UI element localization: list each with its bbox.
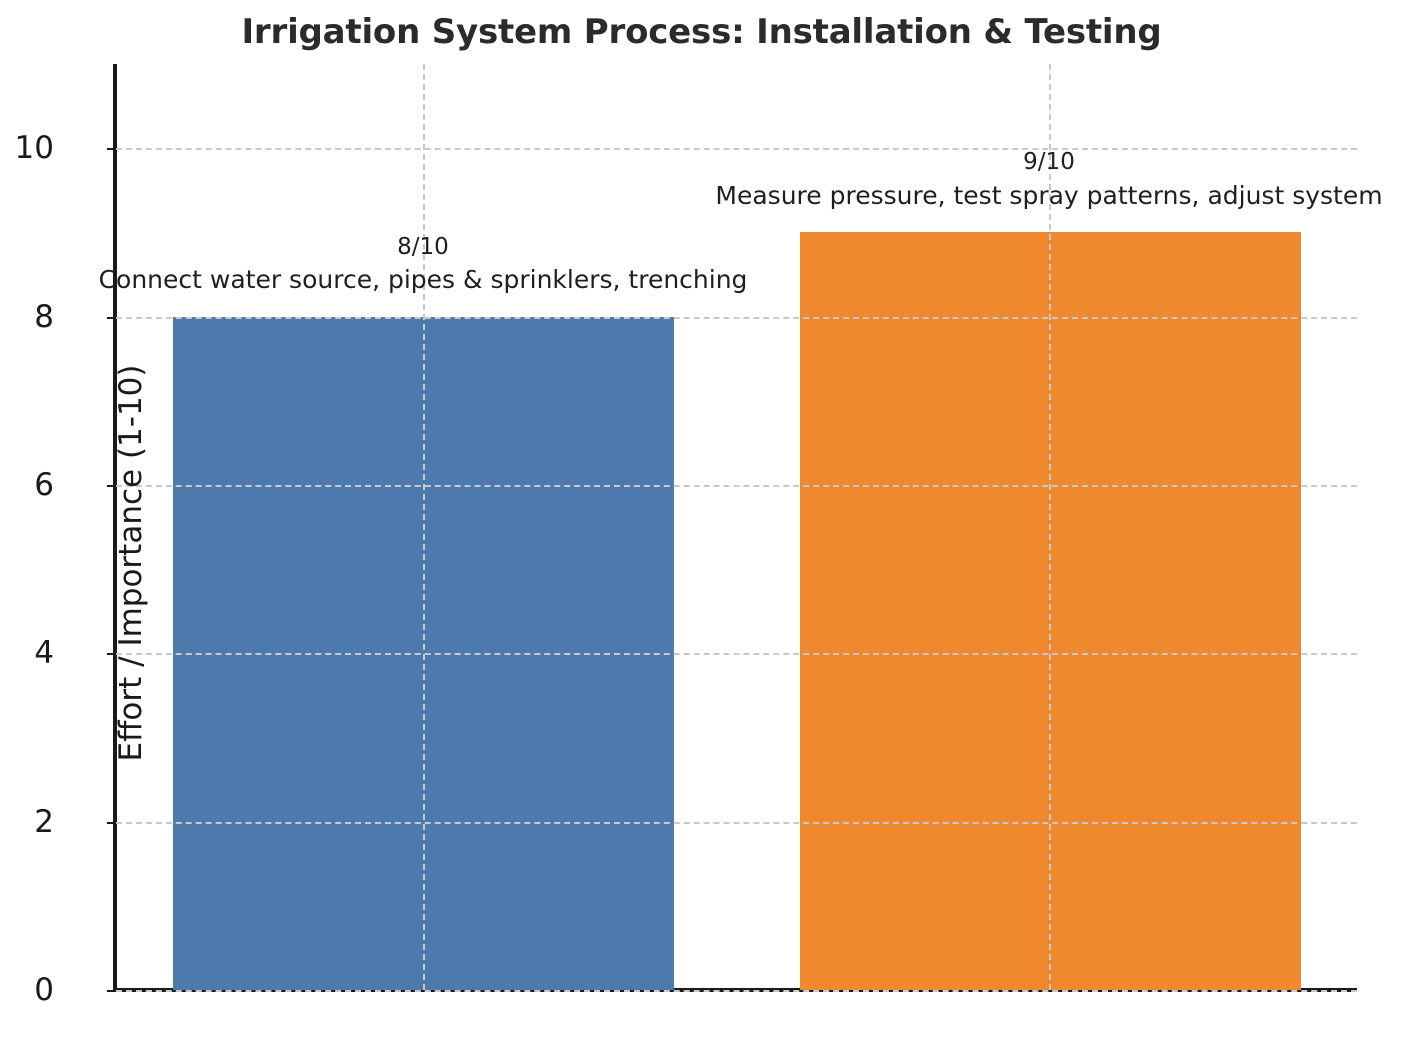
gridline-y-4: [116, 653, 1357, 655]
bar-value-label-testing: 9/10: [715, 147, 1382, 179]
bar-description-installation: Connect water source, pipes & sprinklers…: [99, 263, 748, 298]
gridline-x-installation: [423, 64, 425, 990]
chart-figure: Irrigation System Process: Installation …: [0, 0, 1403, 1053]
y-tick-label-2: 2: [0, 807, 54, 838]
y-axis-label: Effort / Importance (1-10): [113, 83, 149, 1043]
plot-area: 0 2 4 6 8 10 8/10 Connect water source, …: [116, 64, 1357, 990]
gridline-y-8: [116, 317, 1357, 319]
y-tick-label-8: 8: [0, 302, 54, 333]
y-tick-label-10: 10: [0, 133, 54, 164]
bar-annotation-installation: 8/10 Connect water source, pipes & sprin…: [99, 232, 748, 298]
bar-annotation-testing: 9/10 Measure pressure, test spray patter…: [715, 147, 1382, 213]
gridline-y-0: [116, 990, 1357, 992]
y-tick-label-0: 0: [0, 975, 54, 1006]
chart-title: Irrigation System Process: Installation …: [0, 12, 1403, 52]
y-tick-label-4: 4: [0, 638, 54, 669]
bar-description-testing: Measure pressure, test spray patterns, a…: [715, 179, 1382, 214]
y-tick-label-6: 6: [0, 470, 54, 501]
bar-value-label-installation: 8/10: [99, 232, 748, 264]
gridline-y-2: [116, 822, 1357, 824]
gridline-y-6: [116, 485, 1357, 487]
